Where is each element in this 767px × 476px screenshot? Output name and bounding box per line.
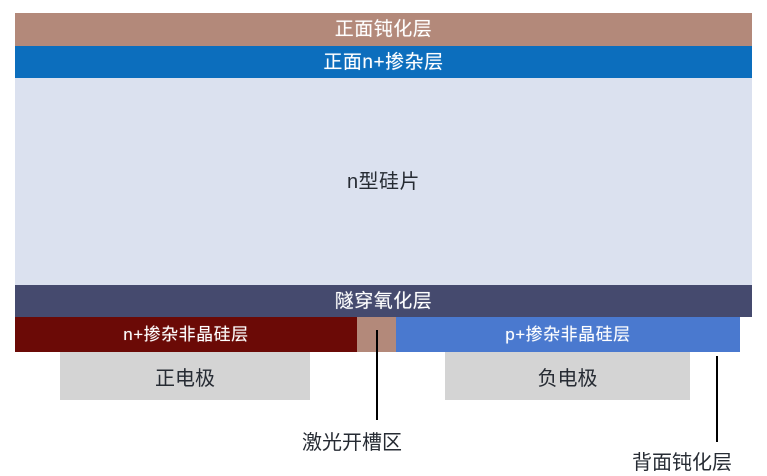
back-passivation-callout-label: 背面钝化层 [632,446,732,475]
layer-p-amorphous-silicon-label: p+掺杂非晶硅层 [505,326,630,343]
laser-groove-callout-label: 激光开槽区 [302,426,402,455]
layer-p-amorphous-silicon: p+掺杂非晶硅层 [396,317,740,352]
laser-groove-leader-line [376,330,378,420]
solar-cell-cross-section-diagram: 正面钝化层 正面n+掺杂层 n型硅片 隧穿氧化层 n+掺杂非晶硅层 p+掺杂非晶… [0,0,767,476]
layer-n-amorphous-silicon: n+掺杂非晶硅层 [15,317,357,352]
negative-electrode-label: 负电极 [538,362,598,391]
layer-front-passivation-label: 正面钝化层 [335,20,433,39]
layer-tunnel-oxide-label: 隧穿氧化层 [335,292,433,311]
layer-tunnel-oxide: 隧穿氧化层 [15,285,752,317]
layer-front-n-doped-label: 正面n+掺杂层 [323,53,443,72]
layer-silicon-wafer-label: n型硅片 [347,172,420,192]
layer-n-amorphous-silicon-label: n+掺杂非晶硅层 [123,326,248,343]
layer-silicon-wafer: n型硅片 [15,78,752,285]
positive-electrode: 正电极 [60,352,310,400]
positive-electrode-label: 正电极 [155,362,215,391]
layer-front-passivation: 正面钝化层 [15,13,752,46]
back-passivation-leader-line [716,356,718,442]
layer-front-n-doped: 正面n+掺杂层 [15,46,752,78]
negative-electrode: 负电极 [445,352,690,400]
